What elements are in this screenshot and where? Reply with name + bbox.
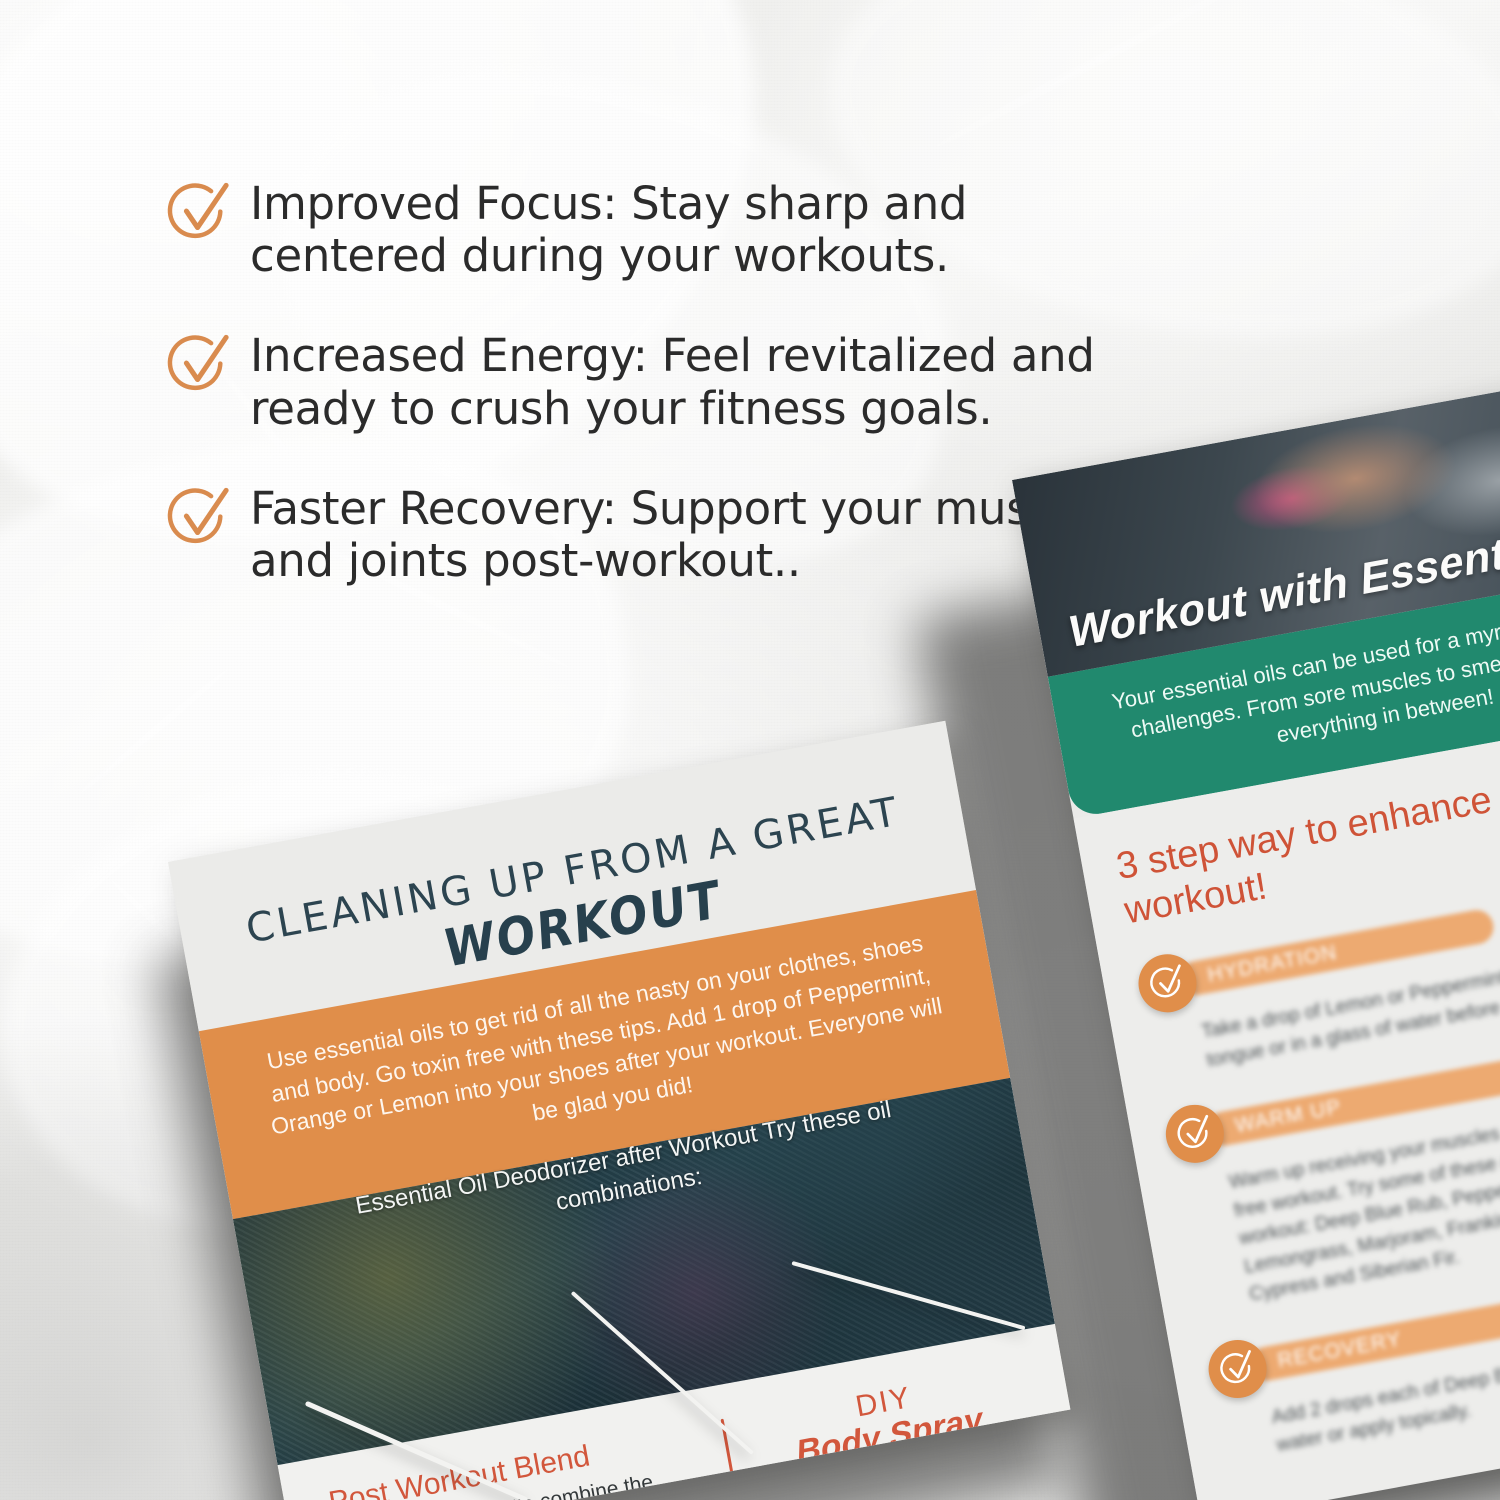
check-circle-icon xyxy=(168,182,230,244)
benefits-list: Improved Focus: Stay sharp and centered … xyxy=(168,178,1168,635)
oil-card-title: Floral Scented: xyxy=(791,1261,1025,1330)
check-circle-icon xyxy=(168,487,230,549)
check-circle-icon xyxy=(1161,1100,1228,1167)
document-cleaning-up[interactable]: CLEANING UP FROM A GREAT WORKOUT Use ess… xyxy=(168,721,1070,1500)
check-circle-icon xyxy=(1134,950,1201,1017)
list-item: Increased Energy: Feel revitalized and r… xyxy=(168,330,1168,434)
list-item-label: Increased Energy: Feel revitalized and r… xyxy=(250,330,1150,434)
poster-canvas: Improved Focus: Stay sharp and centered … xyxy=(0,0,1500,1500)
list-item: Improved Focus: Stay sharp and centered … xyxy=(168,178,1168,282)
check-circle-icon xyxy=(168,334,230,396)
list-item-label: Improved Focus: Stay sharp and centered … xyxy=(250,178,1150,282)
check-circle-icon xyxy=(1204,1335,1271,1402)
oil-card[interactable]: Floral Scented: Geranium, Ylang Ylang, L… xyxy=(791,1261,1025,1330)
